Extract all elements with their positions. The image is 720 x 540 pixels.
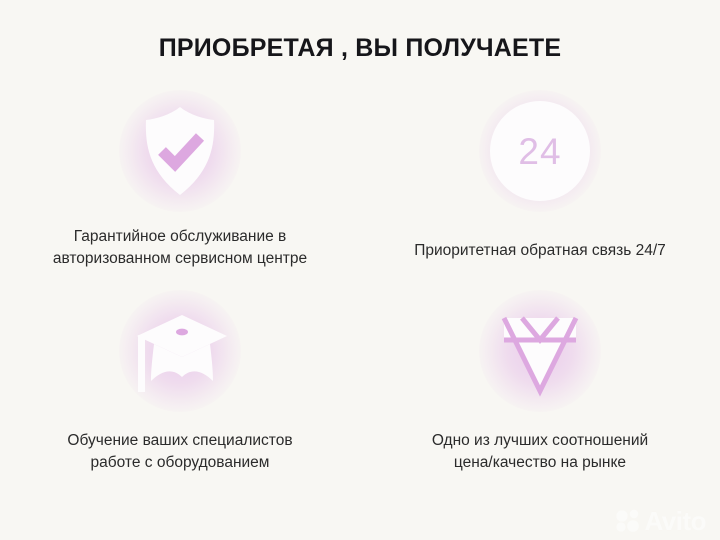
caption-line: работе с оборудованием — [20, 452, 340, 474]
feature-training: Обучение ваших специалистов работе с обо… — [0, 292, 360, 492]
feature-training-caption: Обучение ваших специалистов работе с обо… — [20, 430, 340, 475]
feature-value-icon-wrap — [480, 292, 600, 410]
caption-line: Приоритетная обратная связь 24/7 — [380, 240, 700, 262]
feature-warranty-icon-wrap — [120, 92, 240, 210]
caption-line: авторизованном сервисном центре — [20, 248, 340, 270]
caption-line: Обучение ваших специалистов — [20, 430, 340, 452]
feature-value-caption: Одно из лучших соотношений цена/качество… — [380, 430, 700, 475]
feature-value: Одно из лучших соотношений цена/качество… — [360, 292, 720, 492]
features-grid: Гарантийное обслуживание в авторизованно… — [0, 92, 720, 492]
avito-watermark-label: Avito — [644, 508, 706, 534]
feature-support: 24 Приоритетная обратная связь 24/7 — [360, 92, 720, 292]
caption-line: цена/качество на рынке — [380, 452, 700, 474]
promo-slide: ПРИОБРЕТАЯ , ВЫ ПОЛУЧАЕТЕ Гарантийное об… — [0, 0, 720, 540]
avito-dots-icon — [615, 509, 641, 533]
graduation-cap-icon — [128, 299, 232, 403]
feature-support-caption: Приоритетная обратная связь 24/7 — [380, 240, 700, 262]
caption-line: Гарантийное обслуживание в — [20, 226, 340, 248]
feature-support-icon-wrap: 24 — [480, 92, 600, 210]
diamond-icon — [488, 299, 592, 403]
circle-24-icon: 24 — [490, 101, 590, 201]
page-title: ПРИОБРЕТАЯ , ВЫ ПОЛУЧАЕТЕ — [0, 34, 720, 63]
caption-line: Одно из лучших соотношений — [380, 430, 700, 452]
avito-watermark: Avito — [615, 508, 706, 534]
feature-warranty: Гарантийное обслуживание в авторизованно… — [0, 92, 360, 292]
feature-warranty-caption: Гарантийное обслуживание в авторизованно… — [20, 226, 340, 271]
shield-check-icon — [128, 99, 232, 203]
feature-training-icon-wrap — [120, 292, 240, 410]
